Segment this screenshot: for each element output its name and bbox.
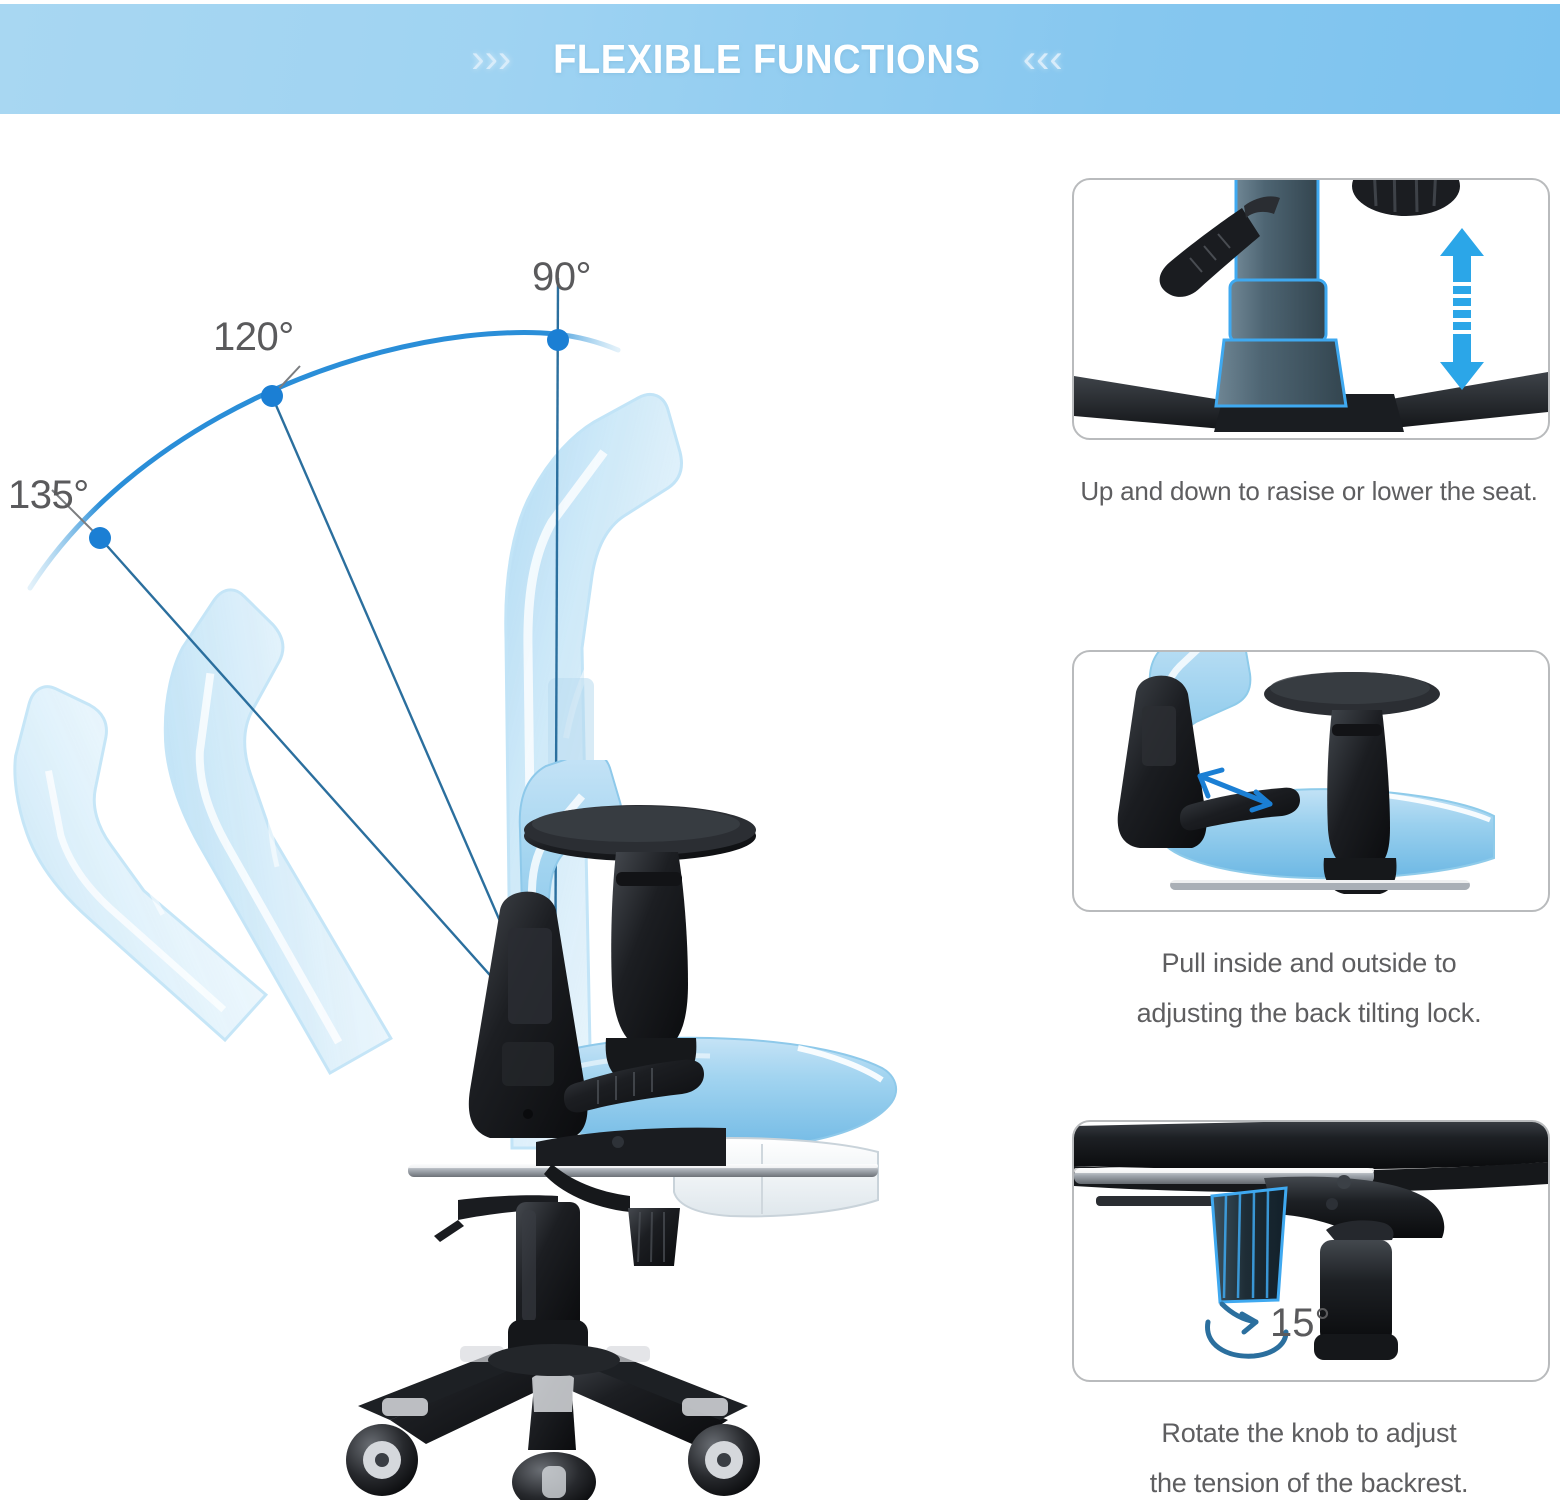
panel-frame-seat-height xyxy=(1072,178,1550,440)
up-down-arrow-icon xyxy=(1440,228,1484,390)
angle-marker-120 xyxy=(261,385,283,407)
tension-knob xyxy=(628,1208,680,1266)
angle-label-90: 90° xyxy=(532,255,591,300)
angle-marker-135 xyxy=(89,527,111,549)
chevron-right-icon: ››› xyxy=(471,39,511,79)
banner-content: ››› FLEXIBLE FUNCTIONS ‹‹‹ xyxy=(471,36,1062,83)
angle-label-120: 120° xyxy=(213,315,294,360)
seat-height-illustration xyxy=(1074,180,1548,438)
knob xyxy=(1352,180,1460,216)
feature-panel-tension-knob: 15° Rotate the knob to adjust the tensio… xyxy=(1072,1120,1546,1508)
caption-line-1: Rotate the knob to adjust xyxy=(1072,1408,1546,1458)
gas-cylinder xyxy=(508,1202,588,1360)
rotate-angle-label: 15° xyxy=(1270,1301,1331,1345)
panel-caption-tilt-lock: Pull inside and outside to adjusting the… xyxy=(1072,938,1546,1038)
feature-panel-seat-height: Up and down to rasise or lower the seat. xyxy=(1072,178,1546,516)
chevron-left-icon-group: ‹‹‹ xyxy=(1023,39,1063,79)
caption-line-1: Pull inside and outside to xyxy=(1072,938,1546,988)
caption-line-2: the tension of the backrest. xyxy=(1072,1458,1546,1508)
caster-front xyxy=(512,1452,596,1500)
chair-illustration xyxy=(330,760,1050,1500)
chevron-right-icon-group: ››› xyxy=(471,39,511,79)
panel-caption-tension-knob: Rotate the knob to adjust the tension of… xyxy=(1072,1408,1546,1508)
caster-left xyxy=(346,1424,418,1496)
tilt-lock-illustration xyxy=(1074,652,1548,910)
caster-right xyxy=(688,1424,760,1496)
panel-frame-tension-knob: 15° xyxy=(1072,1120,1550,1382)
angle-marker-90 xyxy=(547,329,569,351)
angle-label-135: 135° xyxy=(8,473,89,518)
panel-caption-seat-height: Up and down to rasise or lower the seat. xyxy=(1072,466,1546,516)
chevron-left-icon: ‹‹‹ xyxy=(1023,39,1063,79)
chair-base xyxy=(358,1344,748,1450)
header-banner: ››› FLEXIBLE FUNCTIONS ‹‹‹ xyxy=(0,4,1560,114)
caption-line-2: adjusting the back tilting lock. xyxy=(1072,988,1546,1038)
feature-panel-tilt-lock: Pull inside and outside to adjusting the… xyxy=(1072,650,1546,1038)
tension-knob-illustration: 15° xyxy=(1074,1122,1548,1380)
panel-frame-tilt-lock xyxy=(1072,650,1550,912)
tension-knob-highlight xyxy=(1212,1188,1286,1302)
page-title: FLEXIBLE FUNCTIONS xyxy=(553,36,980,83)
